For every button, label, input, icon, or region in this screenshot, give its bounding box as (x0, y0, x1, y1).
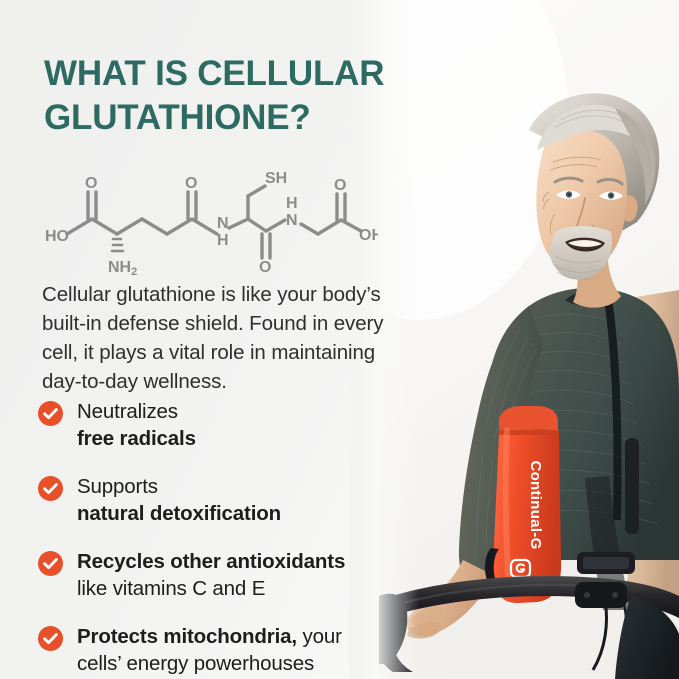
label-n2-top: H (286, 195, 298, 212)
benefit-4-line-1: Protects mitochondria, your (77, 623, 342, 650)
benefit-2-line-2: natural detoxification (77, 500, 281, 527)
list-item-text: Recycles other antioxidants like vitamin… (77, 548, 345, 602)
benefit-3-line-2: like vitamins C and E (77, 575, 345, 602)
list-item: Recycles other antioxidants like vitamin… (38, 548, 398, 602)
label-o4: O (334, 177, 346, 194)
infographic-page: Continual-G (0, 0, 679, 679)
label-oh: OH (359, 227, 378, 244)
benefit-1-line-2: free radicals (77, 425, 196, 452)
list-item-text: Supports natural detoxification (77, 473, 281, 527)
list-item-text: Protects mitochondria, your cells’ energ… (77, 623, 342, 677)
svg-text:Continual-G: Continual-G (527, 460, 544, 549)
list-item: Neutralizes free radicals (38, 398, 398, 452)
benefits-list: Neutralizes free radicals Supports natur… (38, 398, 398, 677)
benefit-4-line-1-bold: Protects mitochondria, (77, 625, 297, 648)
label-o3: O (259, 259, 271, 276)
page-title-line1: WHAT IS CELLULAR (44, 54, 384, 93)
continual-g-bottle: Continual-G (493, 406, 561, 603)
check-circle-icon (38, 401, 63, 426)
label-o2: O (185, 175, 197, 192)
list-item: Protects mitochondria, your cells’ energ… (38, 623, 398, 677)
label-n2-bottom: N (286, 212, 298, 229)
benefit-1-line-1: Neutralizes (77, 398, 196, 425)
label-ho: HO (45, 228, 69, 245)
list-item-text: Neutralizes free radicals (77, 398, 196, 452)
label-nh2: NH2 (108, 259, 137, 276)
check-circle-icon (38, 476, 63, 501)
page-title-line2: GLUTATHIONE? (44, 96, 444, 140)
glutathione-structure-diagram: HO O NH2 O N H SH O H N O OH (33, 148, 378, 276)
check-circle-icon (38, 626, 63, 651)
label-n1-bottom: H (217, 232, 229, 249)
benefit-4-line-2: cells’ energy powerhouses (77, 650, 342, 677)
benefit-3-line-1: Recycles other antioxidants (77, 548, 345, 575)
label-n1-top: N (217, 215, 229, 232)
benefit-4-line-1-rest: your (297, 625, 342, 648)
label-sh: SH (265, 170, 287, 187)
list-item: Supports natural detoxification (38, 473, 398, 527)
label-o1: O (85, 175, 97, 192)
page-title: WHAT IS CELLULAR GLUTATHIONE? (44, 52, 444, 141)
intro-paragraph: Cellular glutathione is like your body’s… (42, 280, 394, 396)
check-circle-icon (38, 551, 63, 576)
benefit-2-line-1: Supports (77, 473, 281, 500)
